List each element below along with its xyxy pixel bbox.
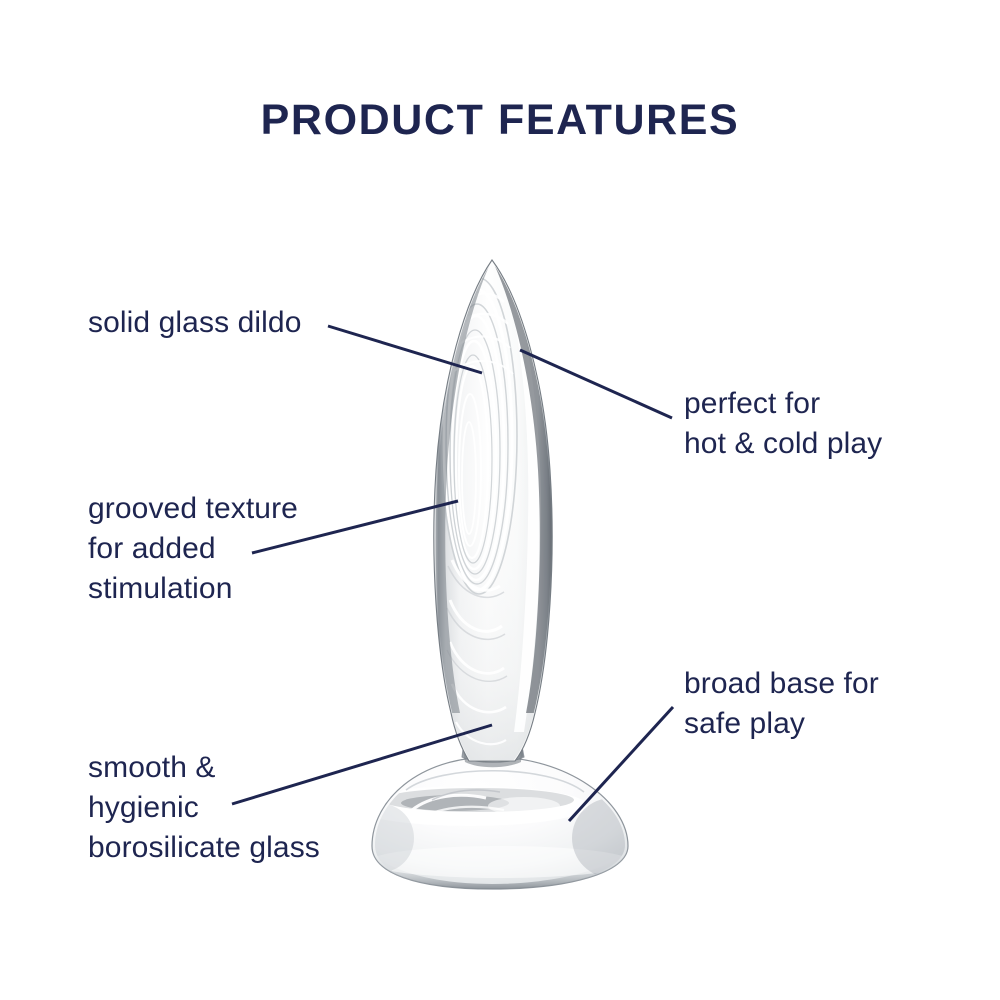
page-title: PRODUCT FEATURES [0, 96, 1000, 145]
callout-label-hot-cold-play: perfect for hot & cold play [684, 384, 882, 464]
product-features-page: PRODUCT FEATURES solid glass dildo groov… [0, 0, 1000, 1000]
callout-label-grooved-texture: grooved texture for added stimulation [88, 489, 298, 609]
product-base [350, 757, 652, 889]
callout-label-solid-glass: solid glass dildo [88, 303, 302, 343]
callout-label-broad-base: broad base for safe play [684, 664, 879, 744]
product-shaft [420, 255, 570, 775]
callout-label-smooth-hygienic: smooth & hygienic borosilicate glass [88, 748, 320, 868]
